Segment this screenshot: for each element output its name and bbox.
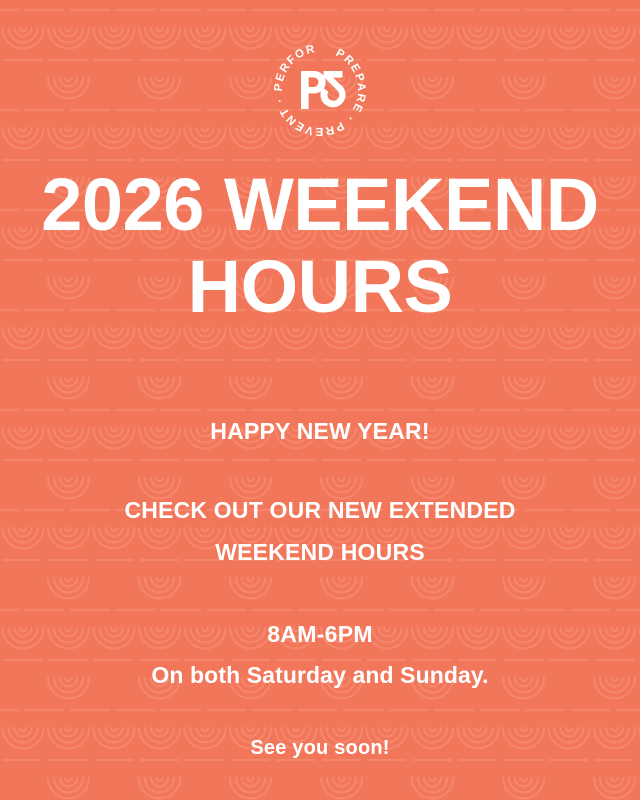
- closing-text: See you soon!: [250, 737, 389, 760]
- poster-canvas: PREPARE · PREVENT · PERFORM · 2026 WEEKE…: [0, 0, 640, 800]
- p3-logo: PREPARE · PREVENT · PERFORM ·: [268, 38, 372, 142]
- announcement-text: CHECK OUT OUR NEW EXTENDED WEEKEND HOURS: [50, 489, 590, 573]
- hours-time: 8AM-6PM: [267, 621, 373, 648]
- p3-monogram: [301, 71, 346, 109]
- hours-days: On both Saturday and Sunday.: [151, 662, 488, 689]
- page-title: 2026 WEEKEND HOURS: [20, 164, 620, 328]
- greeting-text: HAPPY NEW YEAR!: [210, 418, 429, 445]
